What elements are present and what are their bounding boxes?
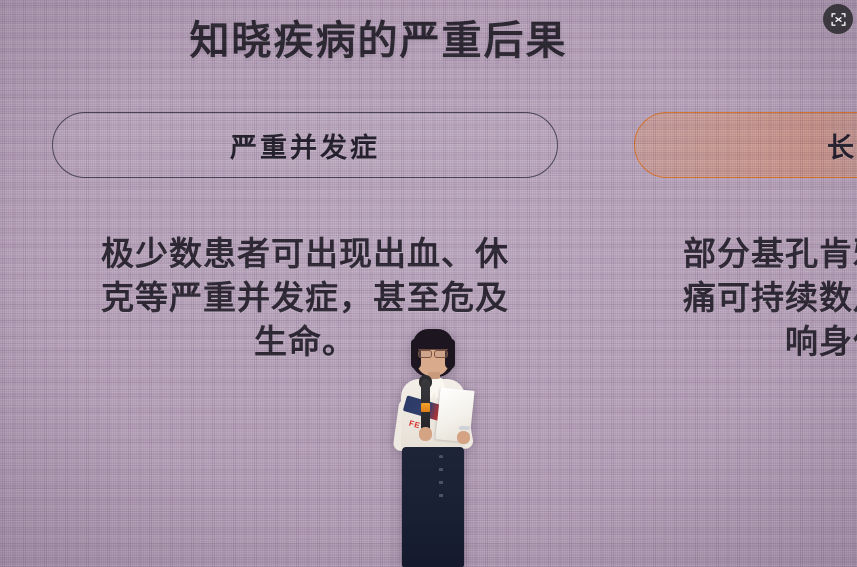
led-screen-stage: 知晓疾病的严重后果 严重并发症 长期影响 极少数患者可出现出血、休 克等严重并发… [0, 0, 857, 567]
page-title: 知晓疾病的严重后果 [0, 8, 857, 66]
presenter-glasses [418, 349, 448, 356]
card-pill-row: 严重并发症 长期影响 [0, 112, 857, 178]
body-line: 克等严重并发症，甚至危及 [52, 276, 558, 320]
presenter-skirt [402, 447, 464, 567]
body-line: 部分基孔肯雅热患者关节疼 [634, 232, 857, 276]
scan-expand-button[interactable] [823, 4, 853, 34]
presenter-hand-right [457, 431, 470, 444]
card-body-long-term-effects: 部分基孔肯雅热患者关节疼 痛可持续数月甚至数年，影 响身体健康。 [634, 232, 857, 364]
presenter-skirt-buttons [439, 455, 443, 507]
body-line: 极少数患者可出现出血、休 [52, 232, 558, 276]
card-pill-long-term-effects[interactable]: 长期影响 [634, 112, 857, 178]
microphone-flag [421, 403, 430, 412]
presenter-hand-left [419, 427, 432, 441]
presenter-watch [459, 426, 470, 430]
scan-expand-icon [830, 11, 847, 28]
presenter-figure: FE [375, 327, 491, 567]
card-pill-severe-complications[interactable]: 严重并发症 [52, 112, 558, 178]
body-line: 响身体健康。 [634, 320, 857, 364]
body-line: 痛可持续数月甚至数年，影 [634, 276, 857, 320]
